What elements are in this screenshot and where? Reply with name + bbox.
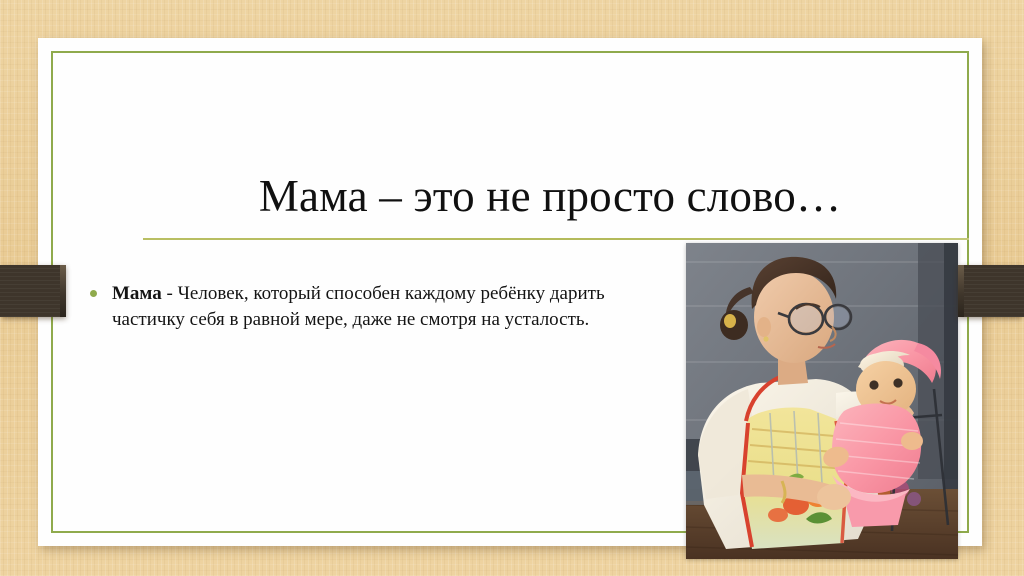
girl-with-doll-photo [686, 243, 958, 559]
list-item: Мама - Человек, который способен каждому… [86, 281, 652, 333]
body-block: Мама - Человек, который способен каждому… [86, 262, 652, 352]
slide-stage: Мама – это не просто слово… Мама - Челов… [0, 0, 1024, 576]
ribbon-fold-right [958, 265, 964, 317]
slide-card: Мама – это не просто слово… Мама - Челов… [38, 38, 982, 546]
page-title: Мама – это не просто слово… [108, 168, 992, 224]
ribbon-fold-left [60, 265, 66, 317]
bullet-point-icon [90, 290, 97, 297]
body-rest-text: - Человек, который способен каждому ребё… [112, 283, 605, 330]
title-divider [143, 238, 969, 240]
body-lead-word: Мама [112, 283, 162, 304]
ribbon-tab-right [960, 265, 1024, 317]
photo-frame [686, 243, 958, 559]
body-paragraph: Мама - Человек, который способен каждому… [112, 281, 652, 333]
ribbon-tab-left [0, 265, 64, 317]
